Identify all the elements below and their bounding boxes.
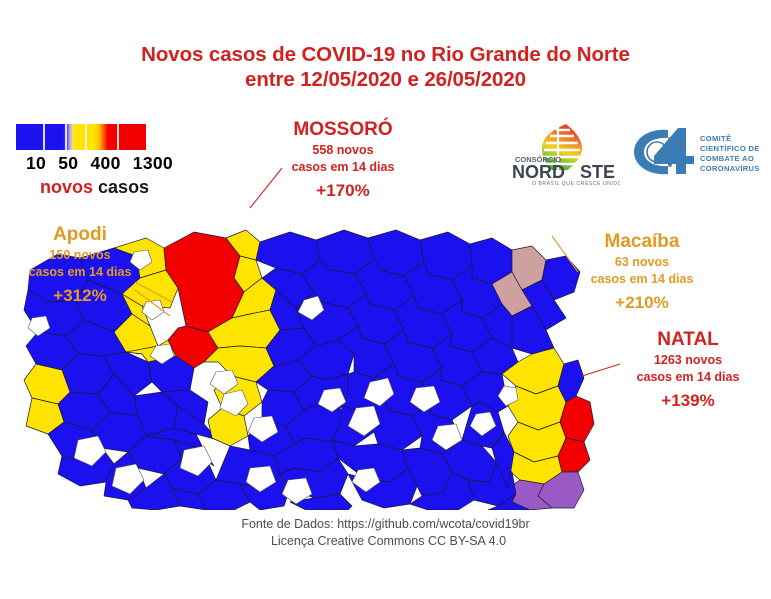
- footer-license: Licença Creative Commons CC BY-SA 4.0: [0, 533, 771, 550]
- footer: Fonte de Dados: https://github.com/wcota…: [0, 516, 771, 550]
- logo-nordeste-ste-text: STE: [580, 162, 615, 182]
- logo-c4-line3: COMBATE AO: [700, 154, 754, 163]
- callout-macaiba-cases: 63 novos: [576, 255, 708, 269]
- callout-mossoro-name: MOSSORÓ: [273, 120, 413, 140]
- callout-mossoro-cases: 558 novos: [273, 143, 413, 157]
- footer-source: Fonte de Dados: https://github.com/wcota…: [0, 516, 771, 533]
- colorbar-tick-400: [85, 124, 87, 150]
- rn-municipality-choropleth-map: [18, 150, 638, 510]
- colorbar-tick-10: [43, 124, 45, 150]
- colorbar-tick-50: [65, 124, 67, 150]
- callout-natal-pct: +139%: [622, 391, 754, 411]
- callout-natal-period: casos em 14 dias: [622, 370, 754, 384]
- callout-mossoro-period: casos em 14 dias: [273, 160, 413, 174]
- legend-colorbar: [16, 124, 146, 150]
- callout-macaiba-pct: +210%: [576, 293, 708, 313]
- municipality-red-mossoro: [164, 232, 244, 332]
- title-line-2: entre 12/05/2020 e 26/05/2020: [0, 67, 771, 92]
- logo-nordeste-nord-text: NORD: [512, 162, 565, 182]
- callout-natal-name: NATAL: [622, 330, 754, 350]
- callout-macaiba-period: casos em 14 dias: [576, 272, 708, 286]
- logo-c4-comite: COMITÊ CIENTÍFICO DE COMBATE AO CORONAVÍ…: [624, 122, 766, 182]
- logo-c4-line2: CIENTÍFICO DE: [700, 144, 760, 153]
- callout-macaiba: Macaíba 63 novos casos em 14 dias +210%: [576, 232, 708, 312]
- callout-apodi-pct: +312%: [18, 286, 142, 306]
- logo-c4-line4: CORONAVÍRUS: [700, 164, 760, 173]
- colorbar-tick-1300: [117, 124, 119, 150]
- logo-nordeste-tagline: O BRASIL QUE CRESCE UNIDO: [532, 181, 620, 186]
- callout-apodi-name: Apodi: [18, 225, 142, 245]
- callout-apodi-cases: 150 novos: [18, 248, 142, 262]
- covid-map-infographic: Novos casos de COVID-19 no Rio Grande do…: [0, 0, 771, 599]
- callout-natal-cases: 1263 novos: [622, 353, 754, 367]
- callout-natal: NATAL 1263 novos casos em 14 dias +139%: [622, 330, 754, 410]
- callout-apodi: Apodi 150 novos casos em 14 dias +312%: [18, 225, 142, 305]
- page-title: Novos casos de COVID-19 no Rio Grande do…: [0, 42, 771, 92]
- logo-c4-line1: COMITÊ: [700, 134, 731, 143]
- title-line-1: Novos casos de COVID-19 no Rio Grande do…: [0, 42, 771, 67]
- logo-consorcio-nordeste: CONSÓRCIO NORD STE O BRASIL QUE CRESCE U…: [512, 118, 620, 186]
- c4-mark: [634, 128, 694, 174]
- callout-apodi-period: casos em 14 dias: [18, 265, 142, 279]
- callout-mossoro: MOSSORÓ 558 novos casos em 14 dias +170%: [273, 120, 413, 200]
- callout-macaiba-name: Macaíba: [576, 232, 708, 252]
- callout-mossoro-pct: +170%: [273, 181, 413, 201]
